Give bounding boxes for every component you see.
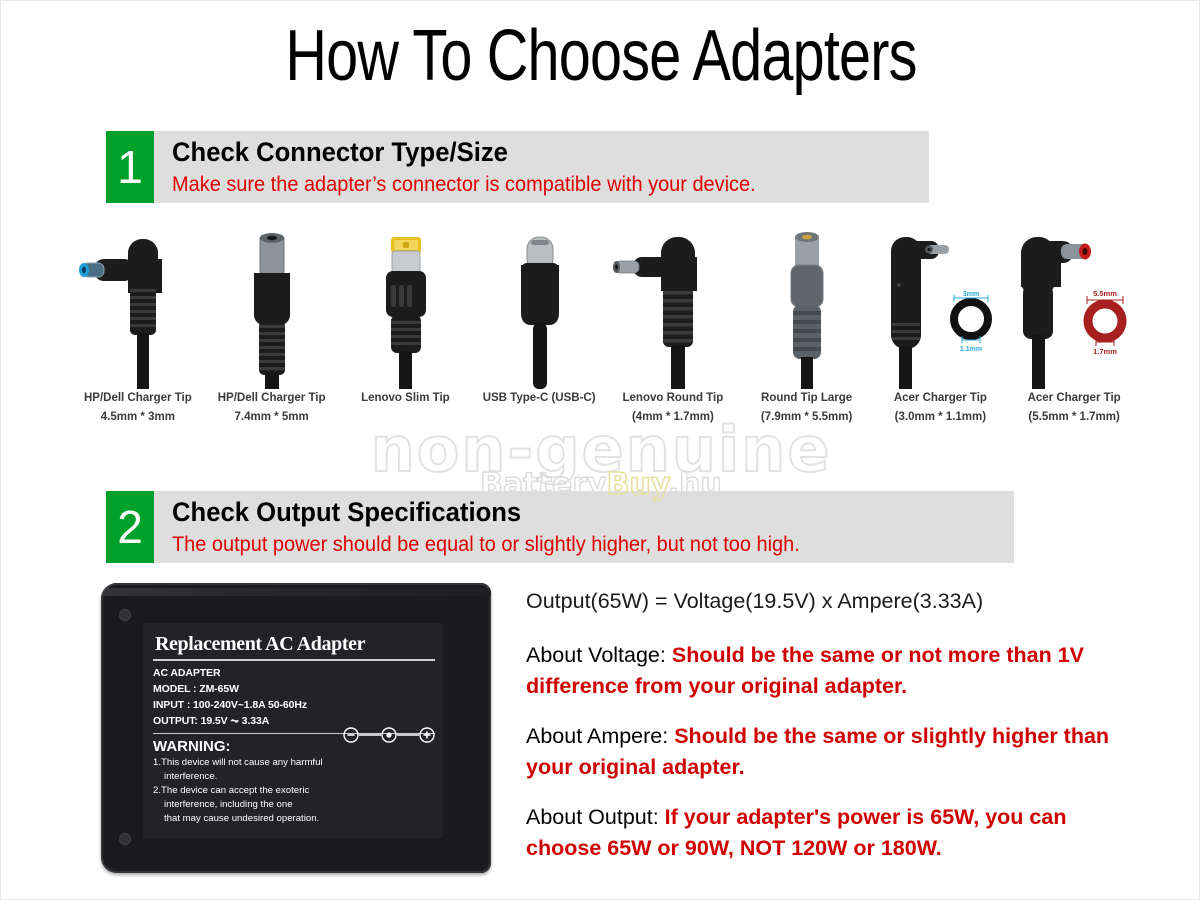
adapter-body: Replacement AC Adapter AC ADAPTER MODEL … <box>101 583 491 873</box>
connector-size: (7.9mm * 5.5mm) <box>761 408 852 427</box>
step-2-subtitle: The output power should be equal to or s… <box>172 532 800 557</box>
connector-hp-dell-74-icon <box>205 229 339 389</box>
warning-line: 1.This device will not cause any harmful <box>153 757 323 768</box>
connector-item[interactable]: Round Tip Large (7.9mm * 5.5mm) <box>740 229 874 449</box>
about-ampere: About Ampere: Should be the same or slig… <box>526 721 1126 782</box>
connector-lenovo-slim-icon <box>339 229 473 389</box>
adapter-label-panel: Replacement AC Adapter AC ADAPTER MODEL … <box>143 623 443 838</box>
connector-item[interactable]: HP/Dell Charger Tip 4.5mm * 3mm <box>71 229 205 449</box>
warning-line: interference, including the one <box>153 798 435 812</box>
ac-adapter-photo: Replacement AC Adapter AC ADAPTER MODEL … <box>93 579 493 879</box>
connector-item[interactable]: Lenovo Slim Tip <box>339 229 473 449</box>
connector-name: HP/Dell Charger Tip <box>218 389 326 408</box>
connector-name: USB Type-C (USB-C) <box>483 389 596 408</box>
connector-size: 4.5mm * 3mm <box>101 408 175 427</box>
connector-acer-55-icon: 5.5mm 1.7mm <box>1007 229 1141 389</box>
step-1-number: 1 <box>106 131 154 203</box>
connector-name: Acer Charger Tip <box>1028 389 1121 408</box>
connector-name: Lenovo Slim Tip <box>361 389 450 408</box>
warning-line: 2.The device can accept the exoteric <box>153 785 309 796</box>
step-2-number: 2 <box>106 491 154 563</box>
connector-item[interactable]: 3mm 1.1mm Acer Charger Tip (3.0mm * 1.1m… <box>874 229 1008 449</box>
polarity-symbol-icon <box>343 727 435 743</box>
output-formula: Output(65W) = Voltage(19.5V) x Ampere(3.… <box>526 589 1126 614</box>
svg-text:1.1mm: 1.1mm <box>960 346 982 353</box>
step-2-header: 2 Check Output Specifications The output… <box>106 491 1014 563</box>
connector-lenovo-round-icon <box>606 229 740 389</box>
svg-text:1.7mm: 1.7mm <box>1093 347 1117 356</box>
connector-name: Acer Charger Tip <box>894 389 987 408</box>
about-voltage-label: About Voltage: <box>526 643 666 667</box>
connector-name: HP/Dell Charger Tip <box>84 389 192 408</box>
screw-dot <box>119 609 131 621</box>
connector-name: Lenovo Round Tip <box>623 389 724 408</box>
step-1-subtitle: Make sure the adapter’s connector is com… <box>172 172 756 197</box>
adapter-input: INPUT : 100-240V~1.8A 50-60Hz <box>153 697 435 713</box>
step-1-header: 1 Check Connector Type/Size Make sure th… <box>106 131 929 203</box>
screw-dot <box>119 833 131 845</box>
connector-size: 7.4mm * 5mm <box>235 408 309 427</box>
svg-text:3mm: 3mm <box>963 291 979 298</box>
adapter-model: MODEL : ZM-65W <box>153 681 435 697</box>
connector-item[interactable]: Lenovo Round Tip (4mm * 1.7mm) <box>606 229 740 449</box>
connector-acer-30-icon: 3mm 1.1mm <box>874 229 1008 389</box>
connector-item[interactable]: USB Type-C (USB-C) <box>472 229 606 449</box>
connector-item[interactable]: HP/Dell Charger Tip 7.4mm * 5mm <box>205 229 339 449</box>
connector-size: (4mm * 1.7mm) <box>632 408 714 427</box>
about-output: About Output: If your adapter's power is… <box>526 802 1126 863</box>
connector-gallery: HP/Dell Charger Tip 4.5mm * 3mm <box>71 229 1141 449</box>
adapter-type: AC ADAPTER <box>153 665 435 681</box>
about-voltage: About Voltage: Should be the same or not… <box>526 640 1126 701</box>
infographic-page: How To Choose Adapters 1 Check Connector… <box>0 0 1200 900</box>
adapter-warning-text: 1.This device will not cause any harmful… <box>153 756 435 826</box>
about-ampere-label: About Ampere: <box>526 724 668 748</box>
connector-hp-dell-45-icon <box>71 229 205 389</box>
connector-usb-c-icon <box>472 229 606 389</box>
divider-rule <box>153 659 435 661</box>
about-output-label: About Output: <box>526 805 659 829</box>
step-2-text-block: Check Output Specifications The output p… <box>154 491 833 563</box>
page-title: How To Choose Adapters <box>121 15 1081 97</box>
step-1-title: Check Connector Type/Size <box>172 137 756 169</box>
warning-line: interference. <box>153 770 435 784</box>
connector-item[interactable]: 5.5mm 1.7mm Acer Charger Tip (5.5mm * 1.… <box>1007 229 1141 449</box>
connector-size: (3.0mm * 1.1mm) <box>895 408 986 427</box>
step-1-text-block: Check Connector Type/Size Make sure the … <box>154 131 786 203</box>
warning-line: that may cause undesired operation. <box>153 812 435 826</box>
connector-round-large-icon <box>740 229 874 389</box>
svg-text:5.5mm: 5.5mm <box>1093 289 1117 298</box>
output-spec-text: Output(65W) = Voltage(19.5V) x Ampere(3.… <box>526 589 1126 883</box>
connector-size: (5.5mm * 1.7mm) <box>1028 408 1119 427</box>
step-2-title: Check Output Specifications <box>172 497 800 529</box>
adapter-label-title: Replacement AC Adapter <box>155 633 435 656</box>
connector-name: Round Tip Large <box>761 389 852 408</box>
